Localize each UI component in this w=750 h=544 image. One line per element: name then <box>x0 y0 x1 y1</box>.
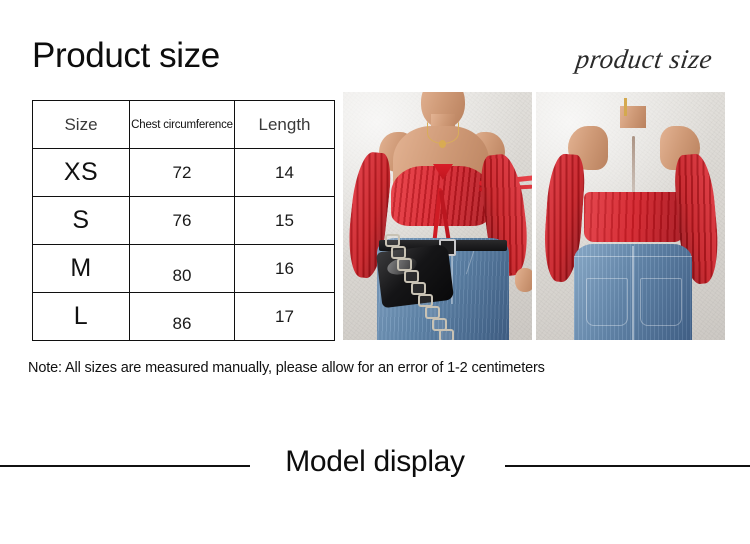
product-photo-front <box>343 92 532 340</box>
page-title: Product size <box>32 38 220 73</box>
cell-chest-s: 76 <box>130 197 235 245</box>
product-size-watermark: product size <box>574 44 715 75</box>
cell-chest-m: 80 <box>130 245 235 293</box>
cell-size-s: S <box>33 197 130 245</box>
cell-length-m: 16 <box>235 245 335 293</box>
product-photo-back <box>536 92 725 340</box>
cell-chest-l: 86 <box>130 293 235 341</box>
necklace-back-drop <box>624 98 627 116</box>
cell-length-s: 15 <box>235 197 335 245</box>
size-chart-table: Size Chest circumference Length XS 72 14… <box>32 100 335 341</box>
model-display-section: Model display <box>0 440 750 492</box>
table-row: M 80 16 <box>33 245 335 293</box>
cell-length-l: 17 <box>235 293 335 341</box>
column-header-chest: Chest circumference <box>130 101 235 149</box>
table-row: S 76 15 <box>33 197 335 245</box>
column-header-size: Size <box>33 101 130 149</box>
measurement-note: Note: All sizes are measured manually, p… <box>28 360 545 376</box>
cell-chest-xs: 72 <box>130 149 235 197</box>
necklace-pendant <box>439 140 446 148</box>
cell-size-xs: XS <box>33 149 130 197</box>
jeans-back-pocket-left <box>586 278 628 326</box>
cell-size-l: L <box>33 293 130 341</box>
model-display-title: Model display <box>0 440 750 484</box>
table-row: L 86 17 <box>33 293 335 341</box>
column-header-length: Length <box>235 101 335 149</box>
model-hand-right <box>515 268 532 292</box>
table-header-row: Size Chest circumference Length <box>33 101 335 149</box>
jeans-back-pocket-right <box>640 278 682 326</box>
jeans-back-seam <box>632 246 634 340</box>
handbag-chain-strap <box>379 228 473 340</box>
cell-size-m: M <box>33 245 130 293</box>
cell-length-xs: 14 <box>235 149 335 197</box>
table-row: XS 72 14 <box>33 149 335 197</box>
red-bandeau-band <box>584 192 684 242</box>
